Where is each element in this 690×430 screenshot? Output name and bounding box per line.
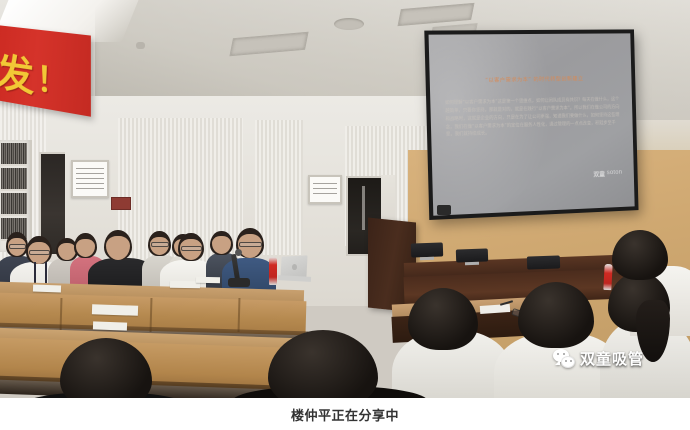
monitor-stand xyxy=(420,257,434,260)
ceiling-speaker xyxy=(334,18,364,30)
notice-text-lines xyxy=(313,183,337,198)
wechat-icon xyxy=(553,349,575,368)
laptop-logo-icon xyxy=(292,264,297,270)
notepad xyxy=(33,285,61,293)
slide-logo: 双童 soton xyxy=(593,169,622,179)
caption-text: 楼仲平正在分享中 xyxy=(291,405,399,424)
screen-roller xyxy=(437,205,451,215)
red-bottle xyxy=(269,257,277,285)
framed-notice xyxy=(71,160,109,198)
door-light-gap xyxy=(362,186,365,230)
red-banner: 发 ！ xyxy=(0,25,91,117)
banner-char-2: ！ xyxy=(36,51,70,106)
microphone-base xyxy=(228,278,250,287)
smoke-detector xyxy=(136,42,145,49)
notepad xyxy=(196,277,220,283)
glasses-icon xyxy=(239,242,262,247)
wall-red-plaque xyxy=(111,197,131,210)
slide-title: “以客户需求为本” 的时代转型创新建立 xyxy=(446,73,619,84)
framed-notice xyxy=(308,175,342,204)
watermark-text: 双童吸管 xyxy=(580,348,644,369)
notepad xyxy=(92,304,138,316)
monitor xyxy=(456,248,488,262)
screenshot-root: 发 ！ “以客户需求为本” 的时代转型创新建立 如何理解“以客户需求为本”这是第… xyxy=(0,0,690,430)
monitor-stand xyxy=(465,262,479,265)
lanyard xyxy=(45,262,47,284)
glasses-icon xyxy=(181,246,202,251)
projection-screen: “以客户需求为本” 的时代转型创新建立 如何理解“以客户需求为本”这是第一个思维… xyxy=(424,29,638,220)
monitor xyxy=(411,242,443,257)
red-bottle xyxy=(603,264,612,290)
glasses-icon xyxy=(151,242,169,247)
banner-char-1: 发 xyxy=(0,40,34,102)
notepad xyxy=(93,321,127,330)
watermark: 双童吸管 xyxy=(553,348,644,369)
monitor xyxy=(527,255,560,269)
slide-body: 如何理解“以客户需求为本”这是第一个思维点，如何让团队成员有共识？每天在做什么，… xyxy=(445,96,621,140)
lanyard xyxy=(34,262,36,284)
slide-logo-en: soton xyxy=(607,170,623,176)
slide-logo-cn: 双童 xyxy=(593,169,605,178)
glasses-icon xyxy=(9,244,26,249)
caption-bar: 楼仲平正在分享中 xyxy=(0,398,690,430)
wall-panel xyxy=(255,120,303,255)
notice-text-lines xyxy=(76,168,104,192)
conference-photo: 发 ！ “以客户需求为本” 的时代转型创新建立 如何理解“以客户需求为本”这是第… xyxy=(0,0,690,398)
glasses-icon xyxy=(29,250,50,255)
projection-surface: “以客户需求为本” 的时代转型创新建立 如何理解“以客户需求为本”这是第一个思维… xyxy=(429,33,635,215)
